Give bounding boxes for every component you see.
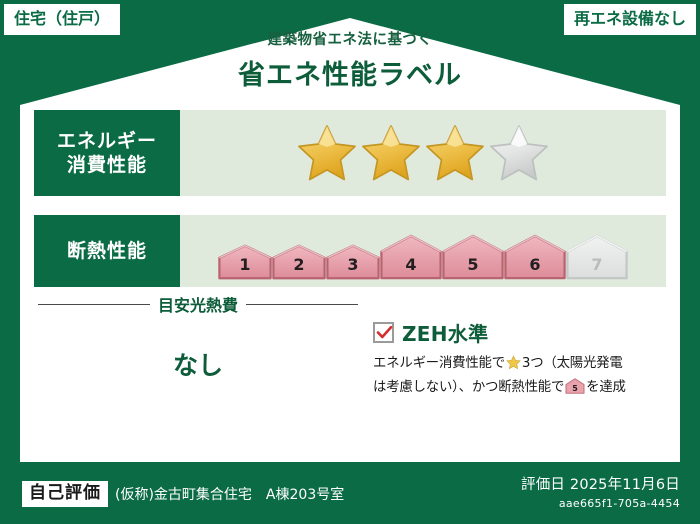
- utility-cost-block: 目安光熱費 なし: [38, 292, 358, 382]
- label-footer: 自己評価 (仮称)金古町集合住宅 A棟203号室 評価日 2025年11月6日 …: [0, 464, 700, 524]
- zeh-block: ZEH水準 エネルギー消費性能で 3つ（太陽光発電 は考慮しない）、かつ断熱性能…: [373, 318, 663, 402]
- zeh-checkbox[interactable]: [373, 322, 394, 343]
- star-rating: [180, 110, 666, 196]
- check-icon: [376, 324, 393, 341]
- star-icon-empty: [488, 123, 550, 183]
- energy-performance-label: 住宅（住戸） 再エネ設備なし 建築物省エネ法に基づく 省エネ性能ラベル エネルギ…: [0, 0, 700, 524]
- insulation-performance-row: 断熱性能 1234567: [34, 215, 666, 287]
- insulation-grade-3: 3: [326, 243, 380, 281]
- evaluation-id: aae665f1-705a-4454: [521, 497, 680, 510]
- evaluation-date: 評価日 2025年11月6日: [521, 473, 680, 494]
- zeh-desc-part3: を達成: [586, 380, 626, 395]
- insulation-grade-number: 5: [442, 255, 504, 274]
- zeh-desc-star-count: 3つ（太陽光発電: [522, 356, 623, 371]
- star-icon-filled: [424, 123, 486, 183]
- page-title: 省エネ性能ラベル: [0, 53, 700, 92]
- zeh-heading: ZEH水準: [373, 318, 663, 347]
- energy-performance-row: エネルギー 消費性能: [34, 110, 666, 196]
- utility-cost-title: 目安光熱費: [158, 292, 238, 316]
- insulation-grade-number: 6: [504, 255, 566, 274]
- building-name: (仮称)金古町集合住宅 A棟203号室: [115, 484, 344, 504]
- insulation-grade-1: 1: [218, 243, 272, 281]
- renewable-equipment-tag: 再エネ設備なし: [564, 4, 696, 35]
- utility-cost-value: なし: [38, 346, 358, 382]
- insulation-grade-icon: 5: [565, 378, 585, 402]
- self-evaluation-badge: 自己評価: [22, 481, 108, 507]
- energy-label-line2: 消費性能: [67, 153, 147, 177]
- insulation-grade-number: 1: [218, 255, 272, 274]
- zeh-desc-part1: エネルギー消費性能で: [373, 356, 505, 371]
- insulation-grade-7: 7: [566, 233, 628, 281]
- energy-label-line1: エネルギー: [57, 129, 157, 153]
- insulation-performance-label-cell: 断熱性能: [34, 215, 180, 287]
- insulation-grade-scale: 1234567: [180, 215, 666, 287]
- star-icon: [506, 355, 521, 378]
- insulation-grade-number: 2: [272, 255, 326, 274]
- rule-right: [246, 304, 358, 305]
- insulation-grade-number: 7: [566, 255, 628, 274]
- insulation-grade-5: 5: [442, 233, 504, 281]
- star-icon-filled: [360, 123, 422, 183]
- self-evaluation-block: 自己評価 (仮称)金古町集合住宅 A棟203号室: [22, 481, 344, 507]
- zeh-title: ZEH水準: [402, 318, 488, 347]
- utility-cost-heading: 目安光熱費: [38, 292, 358, 316]
- label-title-block: 建築物省エネ法に基づく 省エネ性能ラベル: [0, 28, 700, 92]
- evaluation-meta: 評価日 2025年11月6日 aae665f1-705a-4454: [521, 473, 680, 510]
- insulation-grade-4: 4: [380, 233, 442, 281]
- zeh-description: エネルギー消費性能で 3つ（太陽光発電 は考慮しない）、かつ断熱性能で 5 を達…: [373, 354, 663, 402]
- insulation-grade-6: 6: [504, 233, 566, 281]
- svg-text:5: 5: [572, 384, 578, 393]
- insulation-grade-2: 2: [272, 243, 326, 281]
- housing-type-tag: 住宅（住戸）: [4, 4, 120, 35]
- rule-left: [38, 304, 150, 305]
- insulation-grade-number: 3: [326, 255, 380, 274]
- star-icon-filled: [296, 123, 358, 183]
- energy-performance-label-cell: エネルギー 消費性能: [34, 110, 180, 196]
- zeh-desc-part2: は考慮しない）、かつ断熱性能で: [373, 380, 564, 395]
- insulation-grade-number: 4: [380, 255, 442, 274]
